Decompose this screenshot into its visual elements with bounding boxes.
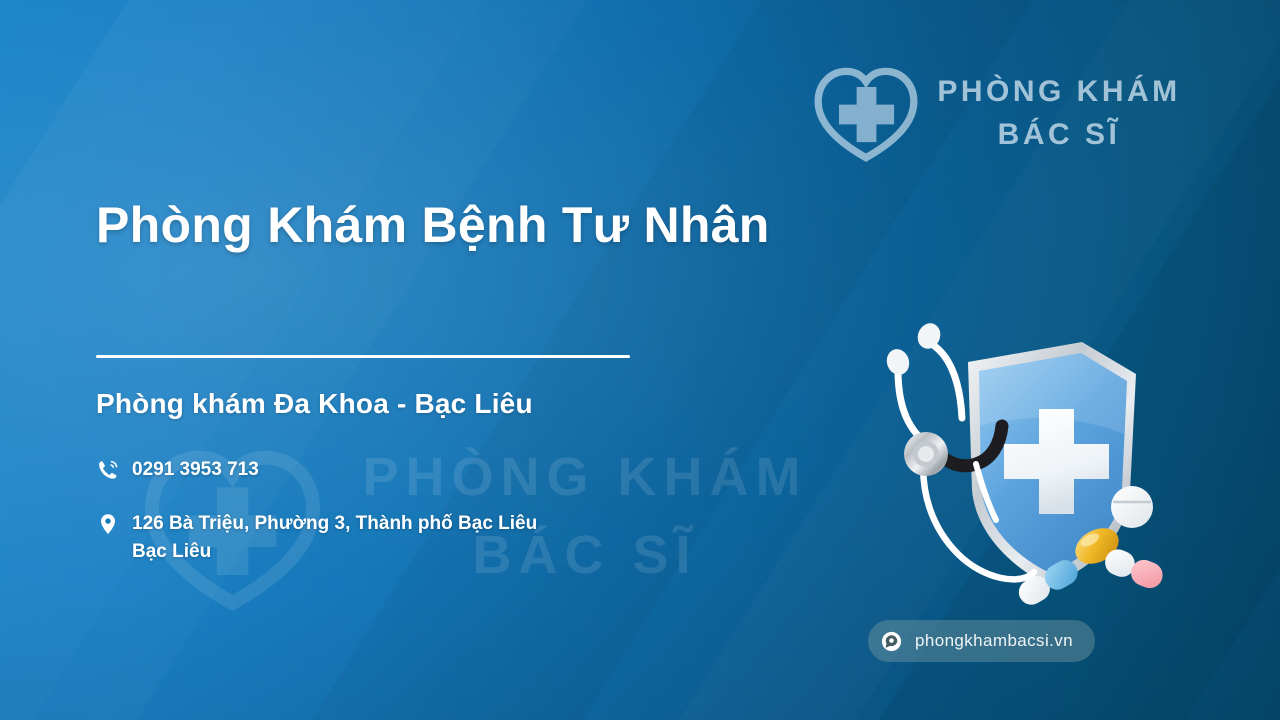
contact-address-text: 126 Bà Triệu, Phường 3, Thành phố Bạc Li… (132, 510, 537, 565)
logo-line-2: BÁC SĨ (934, 114, 1184, 157)
address-line-1: 126 Bà Triệu, Phường 3, Thành phố Bạc Li… (132, 513, 537, 534)
page-title: Phòng Khám Bệnh Tư Nhân (96, 196, 770, 254)
contact-address-row[interactable]: 126 Bà Triệu, Phường 3, Thành phố Bạc Li… (96, 510, 736, 565)
clinic-banner: PHÒNG KHÁM BÁC SĨ PHÒNG KHÁM BÁC SĨ Phòn… (0, 0, 1280, 720)
stethoscope-eartip (884, 346, 913, 378)
address-line-2: Bạc Liêu (132, 541, 211, 562)
logo-line-1: PHÒNG KHÁM (937, 75, 1180, 108)
medical-illustration (836, 314, 1180, 614)
globe-icon (880, 630, 903, 653)
clinic-name: Phòng khám Đa Khoa - Bạc Liêu (96, 388, 533, 420)
brand-logo: PHÒNG KHÁM BÁC SĨ (812, 58, 1184, 170)
phone-call-icon (96, 457, 120, 483)
white-round-tablet (1111, 486, 1153, 528)
medical-cross-heart-icon (812, 62, 920, 166)
website-badge[interactable]: phongkhambacsi.vn (868, 620, 1095, 662)
title-divider (96, 355, 630, 358)
map-pin-icon (96, 511, 120, 537)
brand-logo-text: PHÒNG KHÁM BÁC SĨ (934, 71, 1184, 156)
pink-white-capsule (1101, 545, 1166, 592)
contact-phone-number: 0291 3953 713 (132, 456, 259, 484)
contact-phone-row[interactable]: 0291 3953 713 (96, 456, 259, 484)
website-url: phongkhambacsi.vn (915, 631, 1073, 651)
